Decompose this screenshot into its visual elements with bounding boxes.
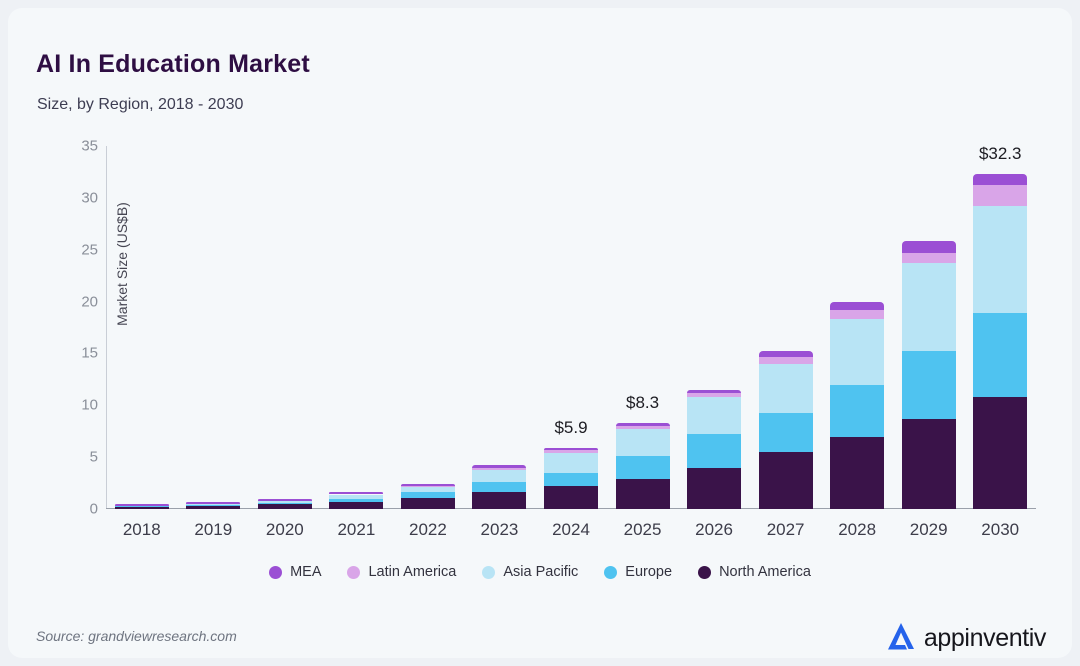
bar-segment[interactable] bbox=[258, 504, 312, 509]
legend-label: Asia Pacific bbox=[503, 564, 578, 580]
chart-subtitle: Size, by Region, 2018 - 2030 bbox=[37, 96, 243, 114]
bar-segment[interactable] bbox=[329, 502, 383, 509]
bar-segment[interactable] bbox=[544, 450, 598, 453]
bar-segment[interactable] bbox=[186, 506, 240, 509]
bar-segment[interactable] bbox=[902, 241, 956, 252]
bar-segment[interactable] bbox=[902, 351, 956, 418]
bar-segment[interactable] bbox=[115, 504, 169, 506]
legend-label: North America bbox=[719, 564, 811, 580]
bar-group[interactable] bbox=[902, 241, 956, 509]
bar-segment[interactable] bbox=[472, 465, 526, 467]
bar-segment[interactable] bbox=[401, 492, 455, 497]
legend-color-swatch-icon bbox=[269, 566, 282, 579]
legend-label: MEA bbox=[290, 564, 321, 580]
bar-group[interactable] bbox=[401, 485, 455, 509]
bar-segment[interactable] bbox=[973, 174, 1027, 185]
bar-segment[interactable] bbox=[759, 357, 813, 364]
legend-item[interactable]: Asia Pacific bbox=[482, 564, 578, 580]
legend-item[interactable]: MEA bbox=[269, 564, 321, 580]
bar-segment[interactable] bbox=[544, 486, 598, 509]
appinventiv-a-mark-icon bbox=[884, 620, 918, 657]
bar-segment[interactable] bbox=[329, 499, 383, 502]
legend-item[interactable]: North America bbox=[698, 564, 811, 580]
bar-segment[interactable] bbox=[616, 423, 670, 426]
bar-segment[interactable] bbox=[759, 452, 813, 509]
bar-segment[interactable] bbox=[687, 468, 741, 509]
bar-group[interactable]: $32.3 bbox=[973, 174, 1027, 509]
y-tick-label: 35 bbox=[42, 138, 98, 155]
bar-segment[interactable] bbox=[329, 492, 383, 494]
bar-segment[interactable] bbox=[902, 253, 956, 263]
bar-segment[interactable] bbox=[329, 495, 383, 499]
bar-segment[interactable] bbox=[687, 393, 741, 397]
legend-color-swatch-icon bbox=[347, 566, 360, 579]
bar-segment[interactable] bbox=[830, 385, 884, 438]
bar-segment[interactable] bbox=[830, 310, 884, 319]
bar-group[interactable]: $5.9 bbox=[544, 448, 598, 509]
bar-group[interactable] bbox=[329, 493, 383, 509]
legend-color-swatch-icon bbox=[482, 566, 495, 579]
y-tick-label: 25 bbox=[42, 241, 98, 258]
bar-value-label: $5.9 bbox=[554, 418, 587, 438]
bar-segment[interactable] bbox=[902, 263, 956, 351]
bar-segment[interactable] bbox=[616, 426, 670, 430]
bar-segment[interactable] bbox=[830, 319, 884, 384]
legend-item[interactable]: Europe bbox=[604, 564, 672, 580]
legend-color-swatch-icon bbox=[698, 566, 711, 579]
x-tick-label: 2030 bbox=[955, 520, 1045, 540]
bar-segment[interactable] bbox=[759, 351, 813, 356]
bar-segment[interactable] bbox=[115, 507, 169, 509]
y-tick-label: 30 bbox=[42, 189, 98, 206]
bar-segment[interactable] bbox=[616, 429, 670, 456]
source-note: Source: grandviewresearch.com bbox=[36, 628, 237, 644]
bar-segment[interactable] bbox=[472, 470, 526, 482]
bar-segment[interactable] bbox=[401, 484, 455, 486]
appinventiv-logo: appinventiv bbox=[884, 620, 1046, 657]
bar-segment[interactable] bbox=[544, 453, 598, 473]
bar-segment[interactable] bbox=[830, 302, 884, 310]
bar-group[interactable] bbox=[759, 351, 813, 509]
legend-color-swatch-icon bbox=[604, 566, 617, 579]
bar-segment[interactable] bbox=[258, 499, 312, 501]
bar-segment[interactable] bbox=[472, 468, 526, 470]
bar-segment[interactable] bbox=[401, 487, 455, 493]
bar-segment[interactable] bbox=[759, 413, 813, 452]
page-title: AI In Education Market bbox=[36, 50, 310, 79]
chart-legend: MEALatin AmericaAsia PacificEuropeNorth … bbox=[8, 564, 1072, 580]
bar-segment[interactable] bbox=[544, 473, 598, 486]
chart-card: AI In Education Market Size, by Region, … bbox=[8, 8, 1072, 658]
bar-segment[interactable] bbox=[687, 434, 741, 467]
legend-label: Latin America bbox=[368, 564, 456, 580]
bar-segment[interactable] bbox=[973, 397, 1027, 509]
y-tick-label: 5 bbox=[42, 449, 98, 466]
bar-segment[interactable] bbox=[472, 482, 526, 492]
appinventiv-wordmark: appinventiv bbox=[924, 624, 1046, 653]
y-tick-label: 0 bbox=[42, 501, 98, 518]
bar-segment[interactable] bbox=[973, 206, 1027, 313]
bar-value-label: $8.3 bbox=[626, 393, 659, 413]
bar-segment[interactable] bbox=[401, 498, 455, 509]
plot-area: $5.9$8.3$32.3 bbox=[106, 146, 1036, 509]
bar-segment[interactable] bbox=[472, 492, 526, 509]
bar-group[interactable]: $8.3 bbox=[616, 423, 670, 509]
bar-group[interactable] bbox=[830, 302, 884, 509]
y-tick-label: 20 bbox=[42, 293, 98, 310]
bar-segment[interactable] bbox=[186, 502, 240, 504]
bar-value-label: $32.3 bbox=[979, 144, 1022, 164]
bar-segment[interactable] bbox=[973, 185, 1027, 206]
bar-segment[interactable] bbox=[687, 390, 741, 393]
y-axis-ticks: 35302520151050 bbox=[36, 146, 98, 509]
bar-segment[interactable] bbox=[830, 437, 884, 509]
bar-segment[interactable] bbox=[902, 419, 956, 509]
y-tick-label: 15 bbox=[42, 345, 98, 362]
bar-group[interactable] bbox=[115, 506, 169, 509]
bar-segment[interactable] bbox=[687, 397, 741, 434]
legend-label: Europe bbox=[625, 564, 672, 580]
bar-group[interactable] bbox=[186, 504, 240, 509]
bar-segment[interactable] bbox=[616, 479, 670, 509]
bar-segment[interactable] bbox=[973, 313, 1027, 397]
bar-group[interactable] bbox=[258, 501, 312, 509]
y-tick-label: 10 bbox=[42, 397, 98, 414]
bar-segment[interactable] bbox=[616, 456, 670, 479]
bar-segment[interactable] bbox=[759, 364, 813, 413]
legend-item[interactable]: Latin America bbox=[347, 564, 456, 580]
bar-group[interactable] bbox=[472, 465, 526, 509]
bar-group[interactable] bbox=[687, 390, 741, 509]
